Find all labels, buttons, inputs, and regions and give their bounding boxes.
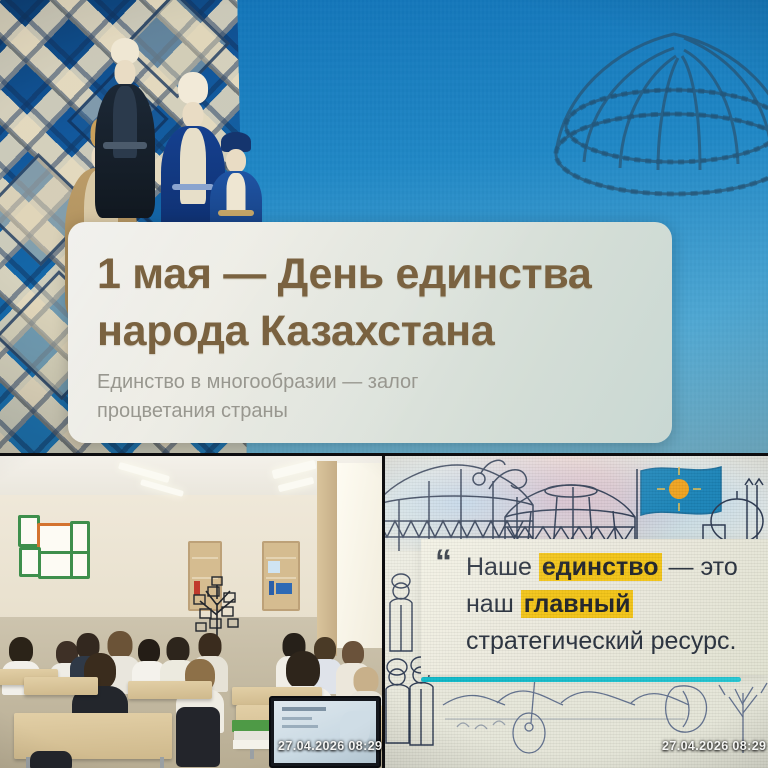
top-banner-panel: 1 мая — День единства народа Казахстана …	[0, 0, 768, 455]
quote-card: “ Наше единство — это наш главный страте…	[421, 539, 768, 675]
quote-slide-panel: “ Наше единство — это наш главный страте…	[385, 455, 768, 768]
wall-info-board	[70, 551, 90, 579]
laptop	[269, 696, 381, 768]
timestamp-classroom: 27.04.2026 08:29	[278, 739, 382, 753]
window	[331, 463, 383, 648]
accent-rule	[421, 677, 741, 682]
figurine-man-black-robe	[92, 38, 158, 218]
highlight-glavny: главный	[521, 590, 634, 618]
curtain	[317, 461, 337, 656]
highlight-edinstvo: единство	[539, 553, 662, 581]
yurt-dome-icon	[524, 4, 768, 219]
page-subtitle: Единство в многообразии — залог процвета…	[97, 368, 567, 426]
wall-info-board	[38, 551, 74, 579]
headline-card: 1 мая — День единства народа Казахстана …	[68, 222, 672, 443]
backpack	[176, 707, 220, 767]
quote-mark-icon: “	[435, 547, 452, 577]
classroom-photo-panel	[0, 455, 383, 768]
bookshelf	[262, 541, 300, 611]
student-desk	[128, 681, 212, 699]
page-title: 1 мая — День единства народа Казахстана	[97, 246, 653, 360]
collage-divider-vertical	[382, 455, 385, 768]
photo-collage: 1 мая — День единства народа Казахстана …	[0, 0, 768, 768]
backpack	[30, 751, 72, 768]
wall-info-board	[70, 521, 90, 555]
timestamp-quote: 27.04.2026 08:29	[662, 739, 766, 753]
student-desk	[24, 677, 98, 695]
quote-text: Наше единство — это наш главный стратеги…	[466, 549, 758, 660]
